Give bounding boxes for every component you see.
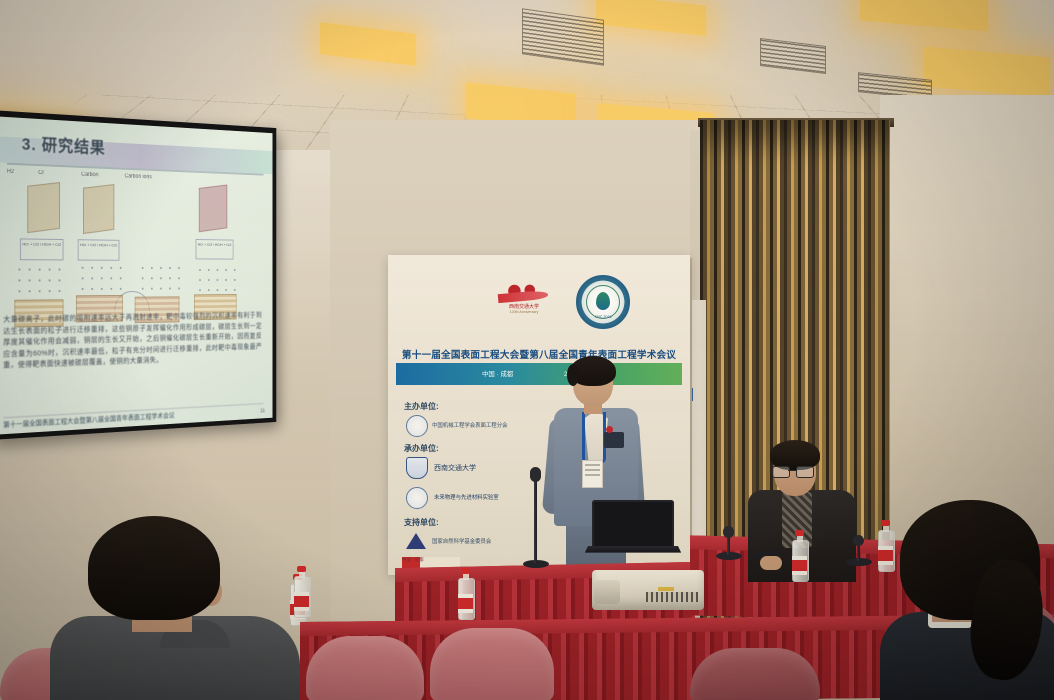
ceiling-light (596, 0, 706, 36)
host-university-logo-icon (406, 457, 428, 479)
projector-indicator (658, 587, 674, 591)
laptop-screen (592, 500, 674, 548)
water-bottle[interactable] (458, 568, 473, 620)
banner-section-label: 支持单位: (404, 517, 439, 528)
banner-location: 中国 · 成都 (482, 369, 513, 378)
conference-room-photo: 3. 研究结果 H2 Cr Carbon Carbon ions HCr + C… (0, 0, 1054, 700)
presenter-laptop[interactable] (588, 500, 676, 562)
banner-supporter: 国家自然科学基金委员会 (432, 537, 491, 545)
slide-page-number: 11 (260, 408, 265, 414)
slide-formula-box: HCr + Cr2 / HCrH + Cr2 (20, 238, 64, 260)
audience-chair[interactable] (430, 628, 554, 700)
slide-surface: 3. 研究结果 H2 Cr Carbon Carbon ions HCr + C… (0, 116, 273, 435)
organizer-logo-icon (406, 415, 428, 437)
slide-body-text: 大量碳离子，此时碳的吸附速率远大于再溅射速率，靶中毒较强烈的沉积速率有利于到达生… (3, 310, 262, 372)
slide-schematic: HCr + Cr2 / HCrH + Cr2 HCr + Cr2 / HCrH … (0, 116, 273, 435)
logo-cn-label: 西南交通大学 (498, 303, 550, 310)
university-anniversary-logo: 西南交通大学 120th Anniversary (496, 278, 552, 322)
presenter-pin-icon (606, 426, 613, 433)
banner-section-label: 主办单位: (404, 401, 439, 412)
banner-section-label: 承办单位: (404, 443, 439, 454)
presenter-lanyard (582, 412, 606, 464)
projector[interactable] (592, 570, 704, 616)
banner-title: 第十一届全国表面工程大会暨第八届全国青年表面工程学术会议 (396, 347, 682, 361)
ceiling-light (860, 0, 988, 32)
audience-chair[interactable] (690, 648, 820, 700)
audience-left-hair (88, 516, 220, 620)
water-bottle[interactable] (792, 530, 807, 582)
projector-vents (646, 592, 698, 602)
ceiling-vent (522, 8, 604, 66)
host-lab-logo-icon (406, 487, 428, 509)
projection-screen: 3. 研究结果 H2 Cr Carbon Carbon ions HCr + C… (0, 110, 276, 440)
audience-person-left (40, 516, 340, 700)
slide-formula-box: HCr + Cr2 / HCrH + Cr2 (78, 239, 120, 261)
panel-microphone-2 (846, 534, 872, 566)
panel-microphone (716, 524, 742, 560)
laptop-keyboard[interactable] (585, 546, 681, 553)
presenter-pocket (604, 432, 624, 448)
banner-host: 西南交通大学 (434, 463, 476, 473)
banner-host-secondary: 未来物理与先进材料实验室 (434, 493, 499, 501)
ceiling-light (320, 22, 416, 66)
presenter-hair (570, 356, 616, 386)
audience-person-right (880, 500, 1054, 700)
podium-microphone (523, 468, 549, 568)
chair-hand (760, 556, 782, 570)
emblem-year-label: SMC 2016 (578, 315, 628, 319)
conference-emblem-logo: SMC 2016 (576, 275, 630, 329)
eyeglasses-icon (772, 466, 814, 476)
ceiling-vent (760, 38, 826, 74)
projector-lens-icon (594, 580, 620, 604)
banner-organizer: 中国机械工程学会表面工程分会 (432, 421, 507, 429)
logo-en-label: 120th Anniversary (498, 310, 550, 314)
ceiling-light (924, 46, 1050, 97)
supporter-logo-icon (406, 531, 426, 551)
presenter-badge (582, 460, 603, 488)
slide-formula-box: HCr + Cr2 / HCrH + Cr2 (196, 239, 234, 260)
